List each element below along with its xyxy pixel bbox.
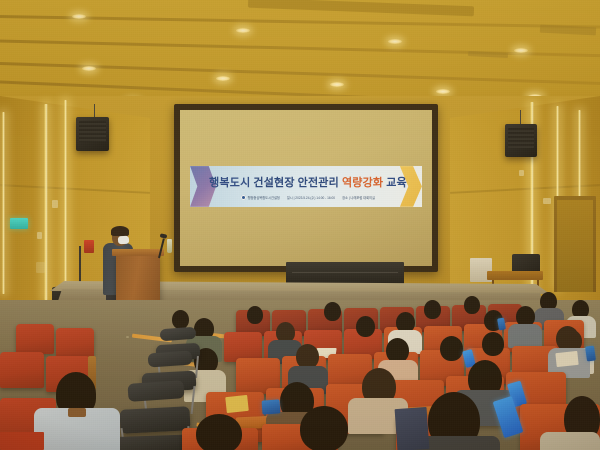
notebook (555, 351, 578, 367)
folding-chair-seat[interactable] (119, 406, 190, 434)
seat[interactable] (0, 352, 44, 388)
ceiling-downlight (82, 66, 96, 71)
banner-organizer: 행정중심복합도시건설청 (248, 195, 280, 200)
wall-light-strip (2, 112, 5, 294)
notebook (225, 395, 249, 413)
wall-switch-plate[interactable] (519, 170, 524, 176)
projection-screen: 행복도시 건설현장 안전관리 역량강화 교육 행정중심복합도시건설청 일시 | … (174, 104, 438, 272)
wall-speaker-right (505, 124, 537, 157)
speaker-hanger (94, 104, 95, 118)
ceiling-beam (248, 0, 474, 16)
attendee-head (196, 414, 242, 450)
presentation-banner: 행복도시 건설현장 안전관리 역량강화 교육 행정중심복합도시건설청 일시 | … (190, 166, 422, 207)
banner-title-seg-4: 역량강화 (342, 174, 383, 190)
ceiling-downlight (72, 14, 86, 19)
seat[interactable] (56, 328, 94, 358)
attendee-head (356, 316, 375, 337)
notebook (395, 407, 430, 450)
folding-chair-back[interactable] (160, 327, 197, 341)
smartphone[interactable] (585, 345, 596, 361)
screen-surface: 행복도시 건설현장 안전관리 역량강화 교육 행정중심복합도시건설청 일시 | … (180, 110, 432, 266)
smartphone[interactable] (262, 399, 281, 414)
banner-title-seg-3: 안전관리 (298, 174, 339, 190)
ceiling-vent (540, 25, 596, 36)
attendee-head (324, 302, 341, 321)
wall-speaker-left (76, 117, 109, 151)
auditorium-photo: 행복도시 건설현장 안전관리 역량강화 교육 행정중심복합도시건설청 일시 | … (0, 0, 600, 450)
side-table (487, 271, 543, 280)
side-door[interactable] (554, 196, 596, 292)
exit-sign-icon (10, 218, 28, 229)
banner-title-seg-5: 교육 (386, 174, 407, 190)
attendee-head (172, 310, 189, 329)
attendee-head (464, 296, 480, 314)
banner-title: 행복도시 건설현장 안전관리 역량강화 교육 (220, 173, 396, 192)
wall-light-strip (64, 100, 67, 304)
presenter-hair (111, 226, 129, 236)
wall-switch-plate[interactable] (52, 200, 58, 208)
water-bottle (167, 239, 172, 253)
banner-title-seg-2: 건설현장 (253, 174, 294, 190)
seat[interactable] (16, 324, 54, 354)
ceiling-downlight (514, 48, 528, 53)
ceiling-downlight (216, 76, 230, 81)
speaker-hanger (520, 110, 521, 124)
banner-place: 장소 | 나래포럼 대회의실 (342, 195, 375, 200)
attendee-head (482, 332, 504, 356)
wall-switch-plate[interactable] (37, 232, 42, 239)
ceiling-downlight (236, 28, 250, 33)
attendee-neck (68, 408, 86, 417)
banner-title-seg-1: 행복도시 (209, 174, 250, 190)
ceiling-downlight (330, 82, 344, 87)
podium-top (112, 249, 164, 256)
ceiling-vent (468, 51, 508, 58)
attendee-head (247, 306, 263, 324)
wall-switch-plate[interactable] (543, 198, 551, 204)
notebook (0, 432, 44, 450)
attendee-head (300, 406, 348, 450)
fire-alarm-icon (84, 240, 94, 253)
banner-subtitle: 행정중심복합도시건설청 일시 | 2023.5.24.(수) 14:00 - 1… (220, 192, 396, 203)
attendee-torso (540, 432, 600, 450)
attendee-head (424, 300, 441, 319)
attendee-torso (508, 324, 542, 348)
face-mask-icon (118, 236, 130, 245)
wall-sign (36, 262, 45, 273)
av-equipment-cabinet (286, 262, 404, 286)
government-emblem-icon: 행정중심복합도시건설청 (241, 195, 280, 200)
attendee-head (440, 336, 463, 361)
ceiling-downlight (388, 39, 402, 44)
banner-date: 일시 | 2023.5.24.(수) 14:00 - 16:00 (287, 195, 335, 200)
ceiling-downlight (436, 89, 450, 94)
